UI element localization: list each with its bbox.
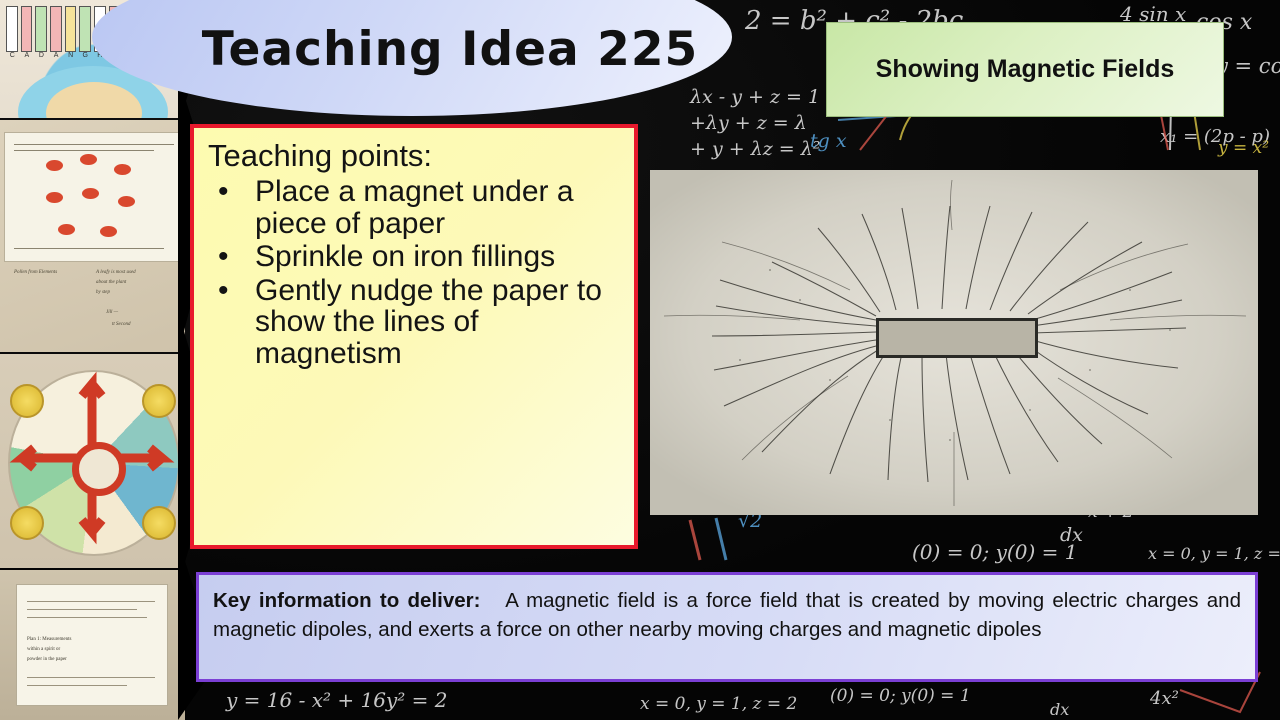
teaching-points-box: Teaching points: • Place a magnet under … bbox=[190, 124, 638, 549]
key-information-text: Key information to deliver: A magnetic f… bbox=[213, 586, 1241, 644]
key-information-label: Key information to deliver: bbox=[213, 589, 480, 612]
bullet-icon: • bbox=[218, 275, 229, 307]
topic-label: Showing Magnetic Fields bbox=[866, 54, 1185, 85]
bullet-icon: • bbox=[218, 176, 229, 208]
list-item: • Gently nudge the paper to show the lin… bbox=[208, 275, 622, 370]
classroom-display-photo-4: Plan 1: Measurements within a spirit or … bbox=[0, 570, 185, 720]
list-item: • Sprinkle on iron fillings bbox=[208, 241, 622, 273]
teaching-points-list: • Place a magnet under a piece of paper … bbox=[208, 176, 622, 369]
topic-box: Showing Magnetic Fields bbox=[826, 22, 1224, 117]
bar-magnet bbox=[876, 318, 1038, 358]
list-item-label: Gently nudge the paper to show the lines… bbox=[255, 274, 602, 370]
photo-strip: CADANGHAMACE Pollen from Elements bbox=[0, 0, 185, 720]
list-item: • Place a magnet under a piece of paper bbox=[208, 176, 622, 239]
bullet-icon: • bbox=[218, 241, 229, 273]
key-information-box: Key information to deliver: A magnetic f… bbox=[196, 572, 1258, 682]
classroom-display-photo-3 bbox=[0, 354, 185, 568]
iron-filings-magnetic-field-photo bbox=[650, 170, 1258, 515]
slide-canvas: 2 = b² + c² - 2bc 4 sin x cos x y = cotg… bbox=[0, 0, 1280, 720]
list-item-label: Place a magnet under a piece of paper bbox=[255, 175, 574, 240]
classroom-display-photo-2: Pollen from Elements A leafy is most use… bbox=[0, 120, 185, 352]
page-title: Teaching Idea 225 bbox=[190, 22, 710, 77]
teaching-points-heading: Teaching points: bbox=[208, 138, 622, 174]
list-item-label: Sprinkle on iron fillings bbox=[255, 240, 555, 273]
